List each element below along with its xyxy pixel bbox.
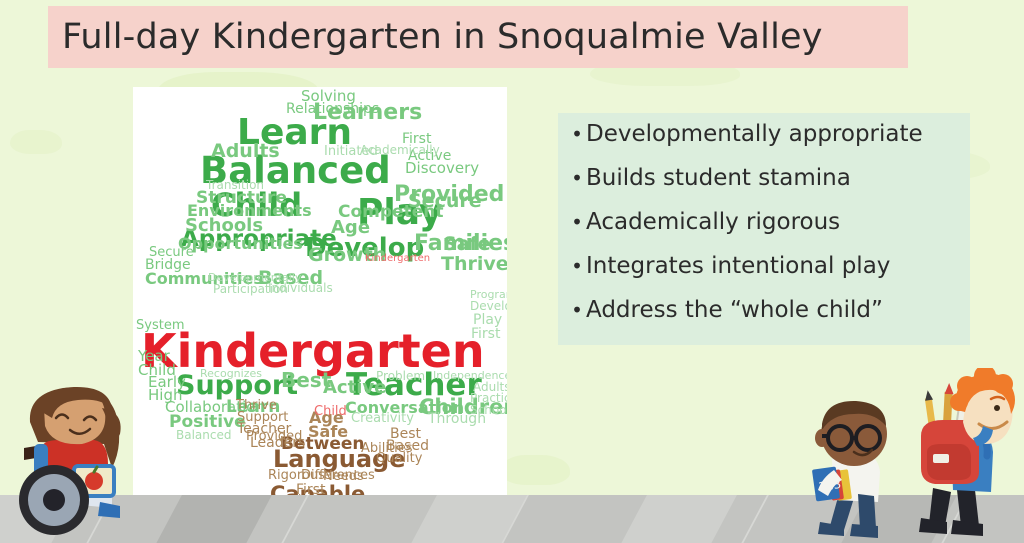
word-cloud-word: High bbox=[148, 388, 182, 403]
boy-leg-front bbox=[858, 494, 876, 528]
word-cloud-word: Secure bbox=[149, 246, 194, 259]
word-cloud-word: Adults bbox=[211, 142, 280, 161]
bullet-marker-icon: • bbox=[568, 254, 586, 278]
word-cloud-word: Child bbox=[314, 405, 347, 418]
word-cloud-word: Safe bbox=[443, 235, 491, 254]
word-cloud-word: Age bbox=[331, 219, 370, 237]
word-cloud-word: Quality bbox=[376, 452, 422, 465]
bullet-panel: • Developmentally appropriate • Builds s… bbox=[558, 113, 970, 345]
list-item: • Builds student stamina bbox=[568, 165, 970, 209]
girl-shoe bbox=[98, 502, 120, 518]
word-cloud-word: Rigorous bbox=[268, 469, 325, 482]
background-cloud-shape bbox=[10, 130, 62, 154]
word-cloud-word: Secure bbox=[408, 192, 482, 211]
boy-with-glasses-illustration: 123 bbox=[800, 398, 910, 543]
word-cloud-word: Initiated bbox=[324, 145, 378, 158]
word-cloud-word: Balanced bbox=[176, 429, 231, 441]
bullet-marker-icon: • bbox=[568, 122, 586, 146]
bullet-label: Developmentally appropriate bbox=[586, 121, 923, 147]
slide: Full-day Kindergarten in Snoqualmie Vall… bbox=[0, 0, 1024, 543]
word-cloud-word: Adults bbox=[473, 381, 507, 393]
bullet-marker-icon: • bbox=[568, 210, 586, 234]
word-cloud-word: First bbox=[471, 327, 500, 341]
list-item: • Academically rigorous bbox=[568, 209, 970, 253]
word-cloud-word: Provided bbox=[246, 430, 302, 443]
bullet-marker-icon: • bbox=[568, 166, 586, 190]
word-cloud-word: Schools bbox=[470, 404, 507, 416]
word-cloud-word: Play bbox=[473, 313, 502, 327]
word-cloud-word: Thrive bbox=[441, 255, 507, 274]
word-cloud-word: Bridge bbox=[145, 258, 191, 272]
word-cloud-word: Needs bbox=[323, 470, 364, 483]
word-cloud-word: Independence bbox=[433, 370, 507, 381]
bullet-label: Address the “whole child” bbox=[586, 297, 883, 323]
word-cloud-word: Problem bbox=[376, 370, 425, 382]
list-item: • Developmentally appropriate bbox=[568, 121, 970, 165]
word-cloud-word: Schools bbox=[185, 217, 263, 235]
list-item: • Address the “whole child” bbox=[568, 297, 970, 341]
list-item: • Integrates intentional play bbox=[568, 253, 970, 297]
bullet-marker-icon: • bbox=[568, 298, 586, 322]
word-cloud-word: Kindergarten bbox=[365, 254, 430, 264]
boy-with-backpack-illustration bbox=[905, 368, 1020, 543]
bullet-label: Integrates intentional play bbox=[586, 253, 890, 279]
word-cloud-word: Thrive bbox=[236, 399, 277, 412]
word-cloud-image: KindergartenBalancedLearnPlayChildTeache… bbox=[133, 87, 507, 500]
boy-leg-front bbox=[957, 490, 979, 526]
word-cloud-word: Child bbox=[138, 363, 176, 378]
word-cloud-word: System bbox=[136, 319, 184, 332]
boy-eye bbox=[994, 405, 1000, 411]
word-cloud-word: Relationships bbox=[286, 102, 379, 116]
word-cloud-word: Opportunities bbox=[178, 236, 303, 252]
title-banner: Full-day Kindergarten in Snoqualmie Vall… bbox=[48, 6, 908, 68]
background-cloud-shape bbox=[500, 455, 570, 485]
word-cloud-word: Develop bbox=[470, 300, 507, 312]
word-cloud-word: Transition bbox=[206, 179, 264, 191]
word-cloud-word: Programs bbox=[470, 289, 507, 300]
page-title: Full-day Kindergarten in Snoqualmie Vall… bbox=[62, 20, 823, 55]
bullet-label: Academically rigorous bbox=[586, 209, 840, 235]
wheelchair-wheel bbox=[19, 465, 89, 535]
word-cloud-word: Creativity bbox=[351, 412, 414, 425]
girl-in-wheelchair-illustration bbox=[8, 382, 138, 543]
boy-shoe-front bbox=[850, 524, 878, 538]
word-cloud-word: Recognizes bbox=[200, 368, 262, 379]
bullet-label: Builds student stamina bbox=[586, 165, 851, 191]
word-cloud-word: Individuals bbox=[268, 282, 333, 294]
